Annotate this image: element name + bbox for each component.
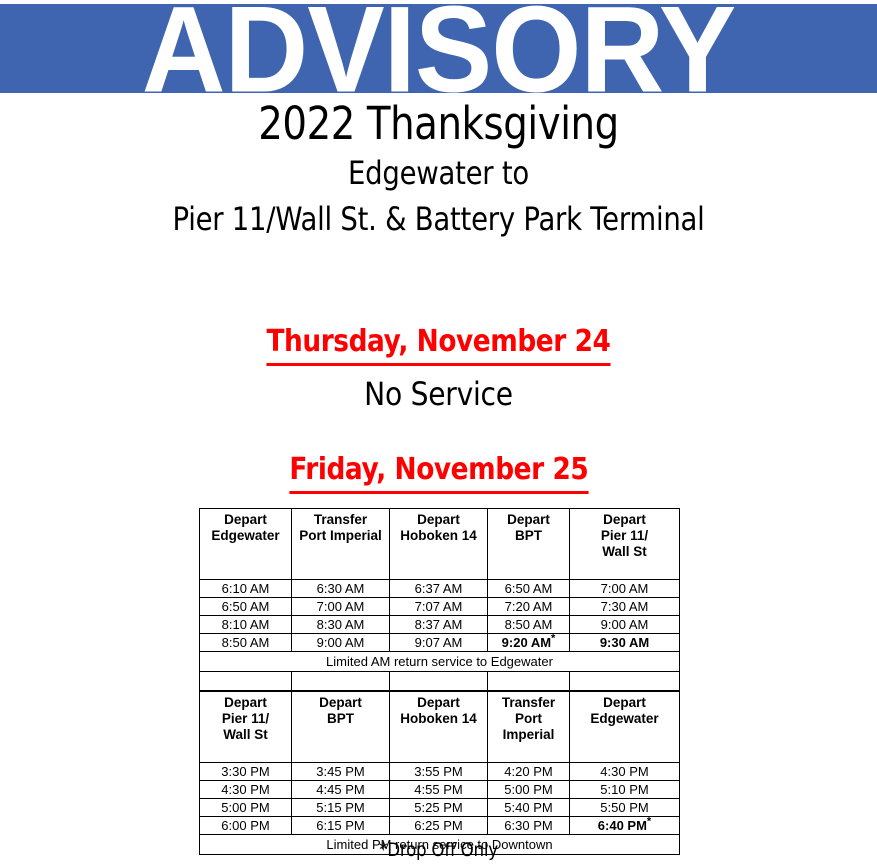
schedule-time-cell: 5:50 PM bbox=[570, 799, 680, 817]
schedule-table-wrapper: DepartEdgewaterTransferPort ImperialDepa… bbox=[199, 508, 679, 855]
day-block-thursday: Thursday, November 24 No Service bbox=[0, 322, 877, 418]
schedule-row: 3:30 PM3:45 PM3:55 PM4:20 PM4:30 PM bbox=[200, 763, 680, 781]
asterisk-marker: * bbox=[551, 632, 555, 644]
day-block-friday: Friday, November 25 bbox=[0, 450, 877, 494]
schedule-time-cell: 6:40 PM* bbox=[570, 817, 680, 835]
schedule-column-header: DepartEdgewater bbox=[570, 691, 680, 763]
schedule-column-header: TransferPortImperial bbox=[488, 691, 570, 763]
schedule-table-body: DepartEdgewaterTransferPort ImperialDepa… bbox=[200, 509, 680, 855]
schedule-time-cell: 3:45 PM bbox=[292, 763, 390, 781]
schedule-time-cell: 6:10 AM bbox=[200, 580, 292, 598]
schedule-time-cell: 4:45 PM bbox=[292, 781, 390, 799]
schedule-column-header: DepartEdgewater bbox=[200, 509, 292, 580]
schedule-time-cell: 8:37 AM bbox=[390, 616, 488, 634]
schedule-column-header: DepartBPT bbox=[488, 509, 570, 580]
schedule-time-cell: 8:10 AM bbox=[200, 616, 292, 634]
schedule-time-cell: 5:00 PM bbox=[488, 781, 570, 799]
page-subtitle-destinations: Pier 11/Wall St. & Battery Park Terminal bbox=[61, 196, 815, 242]
schedule-column-header: DepartPier 11/Wall St bbox=[570, 509, 680, 580]
schedule-time-cell: 6:37 AM bbox=[390, 580, 488, 598]
schedule-time-cell: 6:50 AM bbox=[200, 598, 292, 616]
page-title: 2022 Thanksgiving bbox=[61, 98, 815, 150]
schedule-time-cell: 5:15 PM bbox=[292, 799, 390, 817]
schedule-time-cell: 5:40 PM bbox=[488, 799, 570, 817]
date-heading-friday: Friday, November 25 bbox=[289, 450, 588, 494]
schedule-time-cell: 7:07 AM bbox=[390, 598, 488, 616]
schedule-spacer-cell bbox=[292, 672, 390, 692]
schedule-time-cell: 6:30 PM bbox=[488, 817, 570, 835]
schedule-time-cell: 7:30 AM bbox=[570, 598, 680, 616]
schedule-spacer-cell bbox=[200, 672, 292, 692]
schedule-time-cell: 4:30 PM bbox=[570, 763, 680, 781]
schedule-row: 6:00 PM6:15 PM6:25 PM6:30 PM6:40 PM* bbox=[200, 817, 680, 835]
schedule-time-cell: 9:30 AM bbox=[570, 634, 680, 652]
schedule-time-cell: 6:30 AM bbox=[292, 580, 390, 598]
schedule-note-text: Limited AM return service to Edgewater bbox=[200, 652, 680, 672]
schedule-time-cell: 3:30 PM bbox=[200, 763, 292, 781]
page-subtitle-origin: Edgewater to bbox=[61, 150, 815, 196]
schedule-time-cell: 6:15 PM bbox=[292, 817, 390, 835]
date-heading-thursday: Thursday, November 24 bbox=[267, 322, 611, 366]
schedule-time-cell: 5:10 PM bbox=[570, 781, 680, 799]
schedule-row: 6:10 AM6:30 AM6:37 AM6:50 AM7:00 AM bbox=[200, 580, 680, 598]
schedule-note-row: Limited AM return service to Edgewater bbox=[200, 652, 680, 672]
schedule-time-cell: 5:00 PM bbox=[200, 799, 292, 817]
schedule-column-header: DepartPier 11/Wall St bbox=[200, 691, 292, 763]
schedule-row: 4:30 PM4:45 PM4:55 PM5:00 PM5:10 PM bbox=[200, 781, 680, 799]
friday-schedule-table: DepartEdgewaterTransferPort ImperialDepa… bbox=[199, 508, 680, 855]
schedule-time-cell: 7:00 AM bbox=[570, 580, 680, 598]
schedule-time-cell: 9:20 AM* bbox=[488, 634, 570, 652]
schedule-time-cell: 8:50 AM bbox=[488, 616, 570, 634]
schedule-time-cell: 4:20 PM bbox=[488, 763, 570, 781]
schedule-time-cell: 5:25 PM bbox=[390, 799, 488, 817]
schedule-row: 6:50 AM7:00 AM7:07 AM7:20 AM7:30 AM bbox=[200, 598, 680, 616]
schedule-spacer-cell bbox=[570, 672, 680, 692]
schedule-time-cell: 6:25 PM bbox=[390, 817, 488, 835]
drop-off-footnote: *Drop Off Only bbox=[53, 838, 825, 862]
schedule-header-row: DepartEdgewaterTransferPort ImperialDepa… bbox=[200, 509, 680, 580]
schedule-column-header: DepartHoboken 14 bbox=[390, 691, 488, 763]
schedule-time-cell: 8:50 AM bbox=[200, 634, 292, 652]
title-block: 2022 Thanksgiving Edgewater to Pier 11/W… bbox=[0, 98, 877, 242]
schedule-time-cell: 8:30 AM bbox=[292, 616, 390, 634]
schedule-header-row: DepartPier 11/Wall StDepartBPTDepartHobo… bbox=[200, 691, 680, 763]
schedule-row: 8:10 AM8:30 AM8:37 AM8:50 AM9:00 AM bbox=[200, 616, 680, 634]
schedule-time-cell: 7:00 AM bbox=[292, 598, 390, 616]
schedule-time-cell: 4:55 PM bbox=[390, 781, 488, 799]
schedule-spacer-cell bbox=[390, 672, 488, 692]
schedule-spacer-cell bbox=[488, 672, 570, 692]
schedule-time-cell: 3:55 PM bbox=[390, 763, 488, 781]
advisory-banner: ADVISORY bbox=[0, 4, 877, 93]
schedule-row: 8:50 AM9:00 AM9:07 AM9:20 AM*9:30 AM bbox=[200, 634, 680, 652]
schedule-column-header: TransferPort Imperial bbox=[292, 509, 390, 580]
schedule-time-cell: 9:00 AM bbox=[570, 616, 680, 634]
service-status-thursday: No Service bbox=[53, 370, 825, 418]
schedule-time-cell: 6:00 PM bbox=[200, 817, 292, 835]
advisory-banner-text: ADVISORY bbox=[142, 4, 736, 93]
schedule-time-cell: 4:30 PM bbox=[200, 781, 292, 799]
schedule-spacer-row bbox=[200, 672, 680, 692]
schedule-time-cell: 7:20 AM bbox=[488, 598, 570, 616]
schedule-time-cell: 9:07 AM bbox=[390, 634, 488, 652]
schedule-row: 5:00 PM5:15 PM5:25 PM5:40 PM5:50 PM bbox=[200, 799, 680, 817]
schedule-time-cell: 6:50 AM bbox=[488, 580, 570, 598]
asterisk-marker: * bbox=[647, 815, 651, 827]
schedule-time-cell: 9:00 AM bbox=[292, 634, 390, 652]
schedule-column-header: DepartHoboken 14 bbox=[390, 509, 488, 580]
schedule-column-header: DepartBPT bbox=[292, 691, 390, 763]
